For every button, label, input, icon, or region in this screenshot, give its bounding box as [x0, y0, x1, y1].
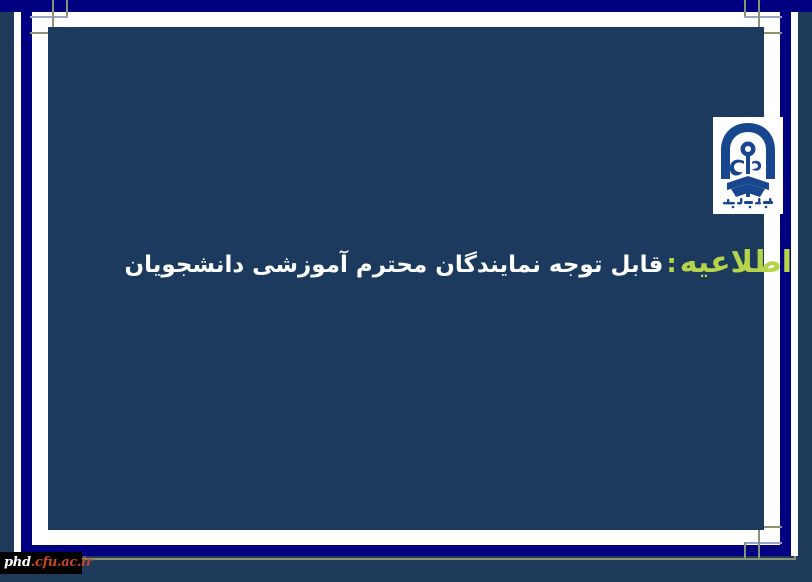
frame-outer-mat-left: [14, 0, 21, 556]
frame-mat-left: [32, 12, 48, 545]
university-crest-icon: [713, 117, 783, 214]
headline-keyword: اطلاعیه: [680, 245, 792, 280]
frame-mat-top: [32, 12, 780, 27]
headline-separator: :: [663, 249, 679, 279]
headline-body: قابل توجه نمایندگان محترم آموزشی دانشجوی…: [125, 252, 664, 278]
frame-band-bottom: [21, 545, 791, 556]
announcement-slide: اطلاعیه:قابل توجه نمایندگان محترم آموزشی…: [0, 0, 812, 582]
frame-band-left: [21, 0, 32, 545]
farhangian-university-logo: [713, 117, 783, 214]
announcement-headline: اطلاعیه:قابل توجه نمایندگان محترم آموزشی…: [96, 240, 796, 288]
frame-mat-bottom: [32, 530, 780, 545]
watermark-domain: .cfu.ac.ir: [31, 555, 93, 570]
slide-content-panel: اطلاعیه:قابل توجه نمایندگان محترم آموزشی…: [48, 27, 764, 530]
frame-band-top: [0, 0, 812, 12]
frame-hairline-bottom: [18, 558, 796, 560]
watermark-prefix: phd: [4, 555, 31, 570]
site-watermark: phd.cfu.ac.ir: [0, 552, 82, 574]
